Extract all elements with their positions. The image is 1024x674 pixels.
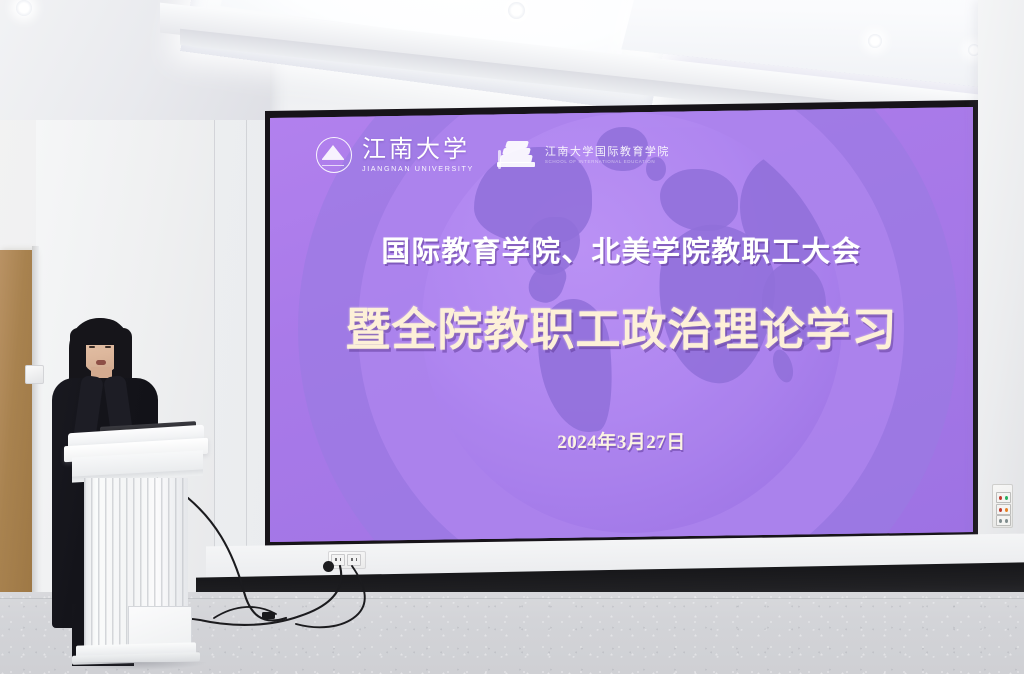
downlight-1-icon: [16, 0, 32, 16]
school-name-en: SCHOOL OF INTERNATIONAL EDUCATION: [545, 159, 670, 164]
university-name-cn: 江南大学: [362, 138, 474, 162]
school-name-cn: 江南大学国际教育学院: [545, 146, 670, 160]
slide-title-line-2: 暨全院教职工政治理论学习: [270, 293, 973, 358]
slide-logo-row: 江南大学 JIANGNAN UNIVERSITY: [316, 137, 670, 173]
continent-europe: [660, 169, 738, 231]
lectern[interactable]: [64, 424, 212, 674]
school-logo: 江南大学国际教育学院 SCHOOL OF INTERNATIONAL EDUCA…: [496, 139, 670, 171]
door-frame: [32, 246, 39, 614]
downlight-2-icon: [508, 2, 525, 19]
presentation-slide: 江南大学 JIANGNAN UNIVERSITY: [270, 107, 973, 542]
presenter-mouth: [96, 360, 106, 365]
led-video-wall[interactable]: 江南大学 JIANGNAN UNIVERSITY: [251, 100, 981, 550]
university-name-en: JIANGNAN UNIVERSITY: [362, 165, 474, 172]
open-book-icon: [496, 139, 538, 171]
av-wall-plate[interactable]: [992, 484, 1013, 528]
wooden-door[interactable]: [0, 250, 34, 610]
screenshot-root: 江南大学 JIANGNAN UNIVERSITY: [0, 0, 1024, 674]
light-switch[interactable]: [25, 365, 44, 384]
university-logo: 江南大学 JIANGNAN UNIVERSITY: [316, 137, 474, 173]
plug-connector: [323, 561, 334, 572]
screen-panel: 江南大学 JIANGNAN UNIVERSITY: [251, 100, 981, 550]
mountain-seal-icon: [316, 137, 352, 173]
lectern-floor-shadow: [70, 662, 206, 670]
wall-seam: [246, 60, 247, 618]
slide-date: 2024年3月27日: [270, 427, 973, 454]
slide-title-line-1: 国际教育学院、北美学院教职工大会: [270, 229, 973, 270]
lectern-column: [84, 478, 188, 648]
downlight-3-icon: [868, 34, 882, 48]
